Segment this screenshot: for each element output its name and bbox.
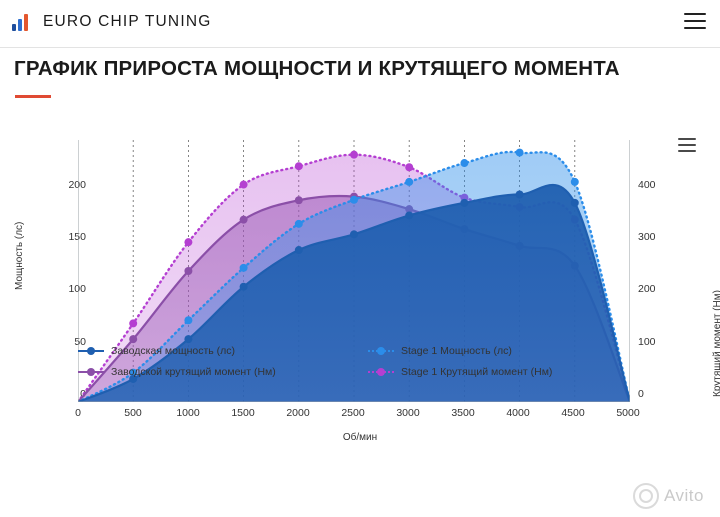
avito-logo-icon [633, 483, 659, 509]
page-title: ГРАФИК ПРИРОСТА МОЩНОСТИ И КРУТЯЩЕГО МОМ… [14, 57, 620, 81]
watermark-text: Avito [664, 486, 704, 506]
avito-watermark: Avito [633, 483, 704, 509]
x-tick: 3000 [388, 407, 428, 419]
x-tick: 5000 [608, 407, 648, 419]
logo[interactable]: EURO CHIP TUNING [12, 11, 211, 33]
legend-item[interactable]: Stage 1 Мощность (лс) [368, 345, 512, 357]
legend-marker-icon [78, 346, 104, 356]
y2-tick: 300 [638, 231, 678, 243]
x-tick: 4500 [553, 407, 593, 419]
page-root: EURO CHIP TUNING ГРАФИК ПРИРОСТА МОЩНОСТ… [0, 0, 720, 517]
legend-label: Stage 1 Крутящий момент (Нм) [401, 366, 552, 378]
legend-item[interactable]: Заводская мощность (лс) [78, 345, 368, 357]
y2-tick: 0 [638, 388, 678, 400]
x-tick: 500 [113, 407, 153, 419]
legend-label: Заводской крутящий момент (Нм) [111, 366, 276, 378]
logo-text: EURO CHIP TUNING [43, 13, 211, 31]
x-tick: 0 [58, 407, 98, 419]
legend-marker-icon [368, 346, 394, 356]
bars-logo-icon [12, 11, 34, 33]
x-tick: 1000 [168, 407, 208, 419]
legend-item[interactable]: Stage 1 Крутящий момент (Нм) [368, 366, 552, 378]
x-tick: 4000 [498, 407, 538, 419]
chart-container: Мощность (лс) Крутящий момент (Нм) Об/ми… [0, 110, 720, 517]
x-tick: 3500 [443, 407, 483, 419]
y2-axis-label: Крутящий момент (Нм) [712, 290, 720, 397]
chart-menu-icon[interactable] [678, 138, 696, 156]
x-tick: 1500 [223, 407, 263, 419]
legend-marker-icon [78, 367, 104, 377]
hamburger-menu-icon[interactable] [684, 13, 706, 31]
site-header: EURO CHIP TUNING [0, 0, 720, 48]
y-axis-label: Мощность (лс) [14, 222, 25, 290]
legend-label: Stage 1 Мощность (лс) [401, 345, 512, 357]
legend-marker-icon [368, 367, 394, 377]
x-axis-label: Об/мин [0, 432, 720, 443]
y2-tick: 400 [638, 179, 678, 191]
legend-label: Заводская мощность (лс) [111, 345, 235, 357]
x-tick: 2500 [333, 407, 373, 419]
chart-legend: Заводская мощность (лс) Stage 1 Мощность… [78, 345, 638, 387]
title-underline [15, 95, 51, 98]
y2-tick: 100 [638, 336, 678, 348]
x-tick: 2000 [278, 407, 318, 419]
y2-tick: 200 [638, 283, 678, 295]
legend-item[interactable]: Заводской крутящий момент (Нм) [78, 366, 368, 378]
